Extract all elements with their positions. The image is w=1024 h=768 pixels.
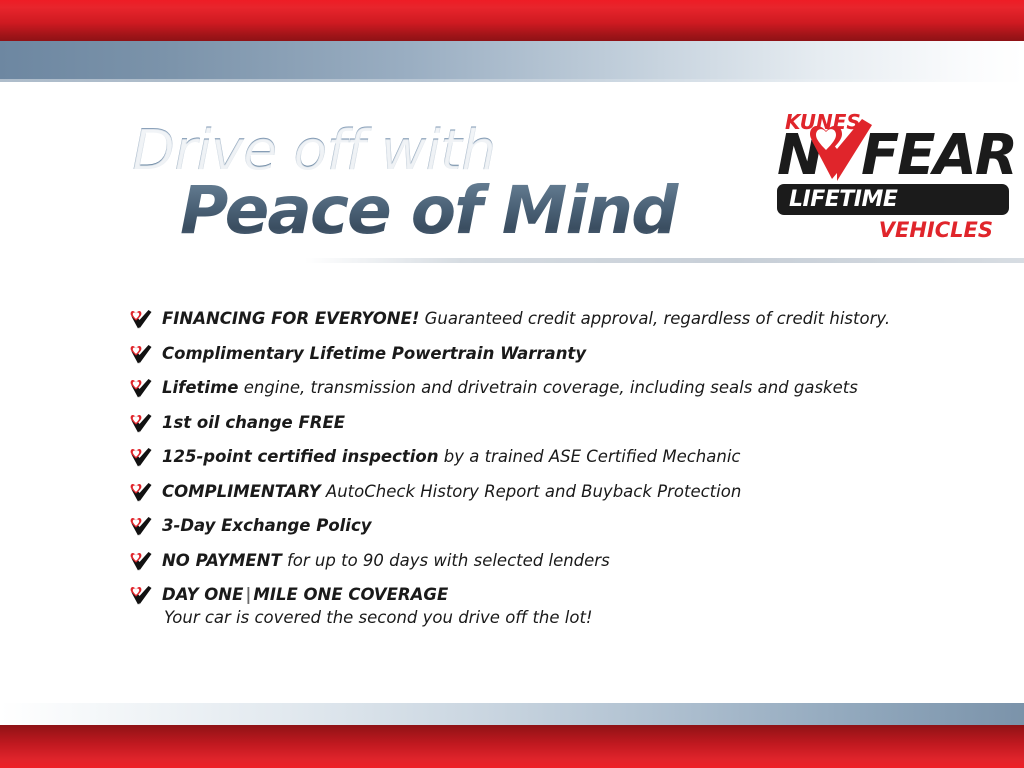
logo-lifetime-certified-text: LIFETIME CERTIFIED — [789, 187, 1009, 215]
top-gray-gradient-band — [0, 41, 1024, 82]
list-item: NO PAYMENT for up to 90 days with select… — [130, 550, 930, 572]
list-item: Lifetime engine, transmission and drivet… — [130, 377, 930, 399]
list-item-bold: 125-point certified inspection — [162, 447, 439, 466]
list-item-bold: NO PAYMENT — [162, 551, 282, 570]
list-item-text: FINANCING FOR EVERYONE! Guaranteed credi… — [162, 308, 930, 330]
logo-lifetime-certified-bar: LIFETIME CERTIFIED — [777, 184, 1009, 215]
list-item-text: Lifetime engine, transmission and drivet… — [162, 377, 930, 399]
headline-line-two: Peace of Mind — [180, 176, 752, 246]
logo-fear-text: FEAR — [861, 128, 1016, 184]
kunes-no-fear-logo: KUNES N FEAR LIFETIME CERTIFIED VEHICLES — [777, 110, 1015, 245]
heart-check-bullet-icon — [130, 309, 153, 329]
heart-check-bullet-icon — [130, 551, 153, 571]
list-item-bold: Lifetime — [162, 378, 238, 397]
benefits-list: FINANCING FOR EVERYONE! Guaranteed credi… — [130, 308, 930, 642]
heart-check-bullet-icon — [130, 344, 153, 364]
list-item-bold: Complimentary Lifetime Powertrain Warran… — [162, 344, 586, 363]
list-item: 1st oil change FREE — [130, 412, 930, 434]
headline-block: Drive off with Peace of Mind — [132, 122, 752, 246]
list-item-bold: FINANCING FOR EVERYONE! — [162, 309, 419, 328]
list-item-normal: engine, transmission and drivetrain cove… — [238, 378, 857, 397]
list-item: 3-Day Exchange Policy — [130, 515, 930, 537]
list-item-bold-second: MILE ONE COVERAGE — [253, 585, 448, 604]
list-item-normal: by a trained ASE Certified Mechanic — [439, 447, 741, 466]
list-item-separator: | — [243, 585, 253, 604]
top-red-band — [0, 0, 1024, 41]
heart-check-bullet-icon — [130, 516, 153, 536]
list-item-bold: DAY ONE — [162, 585, 243, 604]
list-item-text: 3-Day Exchange Policy — [162, 515, 930, 537]
list-item-text: Complimentary Lifetime Powertrain Warran… — [162, 343, 930, 365]
kunes-no-fear-certified-poster: Drive off with Peace of Mind KUNES N FEA… — [0, 0, 1024, 768]
list-item-text: 125-point certified inspection by a trai… — [162, 446, 930, 468]
list-item-text: DAY ONE|MILE ONE COVERAGE — [162, 584, 930, 606]
logo-vehicles-text: VEHICLES — [879, 218, 993, 242]
list-item: DAY ONE|MILE ONE COVERAGE Your car is co… — [130, 584, 930, 629]
heart-check-bullet-icon — [130, 585, 153, 605]
list-item: COMPLIMENTARY AutoCheck History Report a… — [130, 481, 930, 503]
list-item-text: 1st oil change FREE — [162, 412, 930, 434]
bottom-gray-gradient-band — [0, 703, 1024, 725]
heart-check-bullet-icon — [130, 378, 153, 398]
list-item-normal: for up to 90 days with selected lenders — [282, 551, 610, 570]
header-divider — [305, 258, 1024, 263]
logo-no-fear-wordmark: N FEAR — [777, 128, 1015, 184]
list-item: Complimentary Lifetime Powertrain Warran… — [130, 343, 930, 365]
list-item-bold: COMPLIMENTARY — [162, 482, 321, 501]
list-item: FINANCING FOR EVERYONE! Guaranteed credi… — [130, 308, 930, 330]
list-item-bold: 1st oil change FREE — [162, 413, 345, 432]
heart-check-bullet-icon — [130, 482, 153, 502]
list-item-normal: Guaranteed credit approval, regardless o… — [419, 309, 890, 328]
list-item-bold: 3-Day Exchange Policy — [162, 516, 372, 535]
list-item-text: COMPLIMENTARY AutoCheck History Report a… — [162, 481, 930, 503]
list-item-subtext: Your car is covered the second you drive… — [164, 607, 930, 629]
heart-check-bullet-icon — [130, 413, 153, 433]
heart-check-bullet-icon — [130, 447, 153, 467]
bottom-red-band — [0, 725, 1024, 768]
list-item: 125-point certified inspection by a trai… — [130, 446, 930, 468]
list-item-text: NO PAYMENT for up to 90 days with select… — [162, 550, 930, 572]
list-item-normal: AutoCheck History Report and Buyback Pro… — [321, 482, 742, 501]
